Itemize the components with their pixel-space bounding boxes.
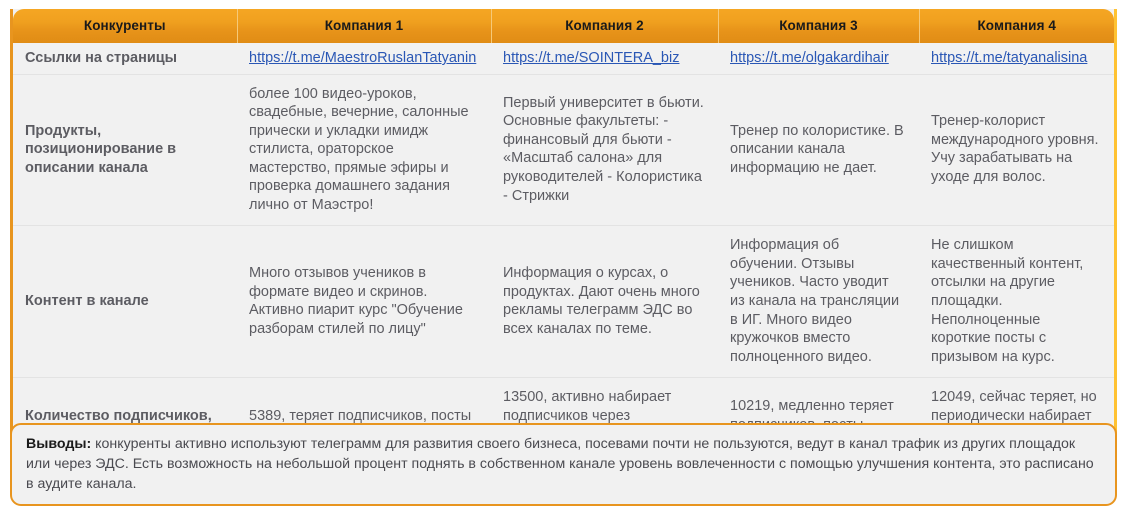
- cell-content-company-3: Информация об обучении. Отзывы учеников.…: [718, 226, 919, 378]
- table-body: Ссылки на страницы https://t.me/MaestroR…: [13, 43, 1114, 473]
- row-label-products: Продукты, позиционирование в описании ка…: [13, 74, 237, 226]
- competitor-table: Конкуренты Компания 1 Компания 2 Компани…: [13, 9, 1114, 473]
- competitor-analysis-page: Конкуренты Компания 1 Компания 2 Компани…: [0, 0, 1144, 510]
- telegram-link-company-1[interactable]: https://t.me/MaestroRuslanTatyanin: [249, 50, 476, 66]
- cell-link-company-4: https://t.me/tatyanalisina: [919, 43, 1114, 74]
- cell-link-company-1: https://t.me/MaestroRuslanTatyanin: [237, 43, 491, 74]
- cell-content-company-1: Много отзывов учеников в формате видео и…: [237, 226, 491, 378]
- cell-link-company-3: https://t.me/olgakardihair: [718, 43, 919, 74]
- table-row-products: Продукты, позиционирование в описании ка…: [13, 74, 1114, 226]
- telegram-link-company-2[interactable]: https://t.me/SOINTERA_biz: [503, 50, 679, 66]
- row-label-links: Ссылки на страницы: [13, 43, 237, 74]
- telegram-link-company-4[interactable]: https://t.me/tatyanalisina: [931, 50, 1087, 66]
- table-row-links: Ссылки на страницы https://t.me/MaestroR…: [13, 43, 1114, 74]
- cell-products-company-4: Тренер-колорист международного уровня. У…: [919, 74, 1114, 226]
- conclusion-label: Выводы:: [26, 436, 91, 452]
- cell-link-company-2: https://t.me/SOINTERA_biz: [491, 43, 718, 74]
- header-row: Конкуренты Компания 1 Компания 2 Компани…: [13, 9, 1114, 43]
- table-row-content: Контент в канале Много отзывов учеников …: [13, 226, 1114, 378]
- column-header-company-2: Компания 2: [491, 9, 718, 43]
- conclusion-text: конкуренты активно используют телеграмм …: [26, 436, 1094, 492]
- telegram-link-company-3[interactable]: https://t.me/olgakardihair: [730, 50, 889, 66]
- cell-products-company-1: более 100 видео-уроков, свадебные, вечер…: [237, 74, 491, 226]
- cell-products-company-3: Тренер по колористике. В описании канала…: [718, 74, 919, 226]
- column-header-company-4: Компания 4: [919, 9, 1114, 43]
- cell-products-company-2: Первый университет в бьюти. Основные фак…: [491, 74, 718, 226]
- competitor-table-container: Конкуренты Компания 1 Компания 2 Компани…: [10, 9, 1117, 473]
- cell-content-company-4: Не слишком качественный контент, отсылки…: [919, 226, 1114, 378]
- row-label-content: Контент в канале: [13, 226, 237, 378]
- cell-content-company-2: Информация о курсах, о продуктах. Дают о…: [491, 226, 718, 378]
- column-header-company-3: Компания 3: [718, 9, 919, 43]
- column-header-company-1: Компания 1: [237, 9, 491, 43]
- conclusion-box: Выводы: конкуренты активно используют те…: [10, 423, 1117, 506]
- column-header-competitors: Конкуренты: [13, 9, 237, 43]
- table-header: Конкуренты Компания 1 Компания 2 Компани…: [13, 9, 1114, 43]
